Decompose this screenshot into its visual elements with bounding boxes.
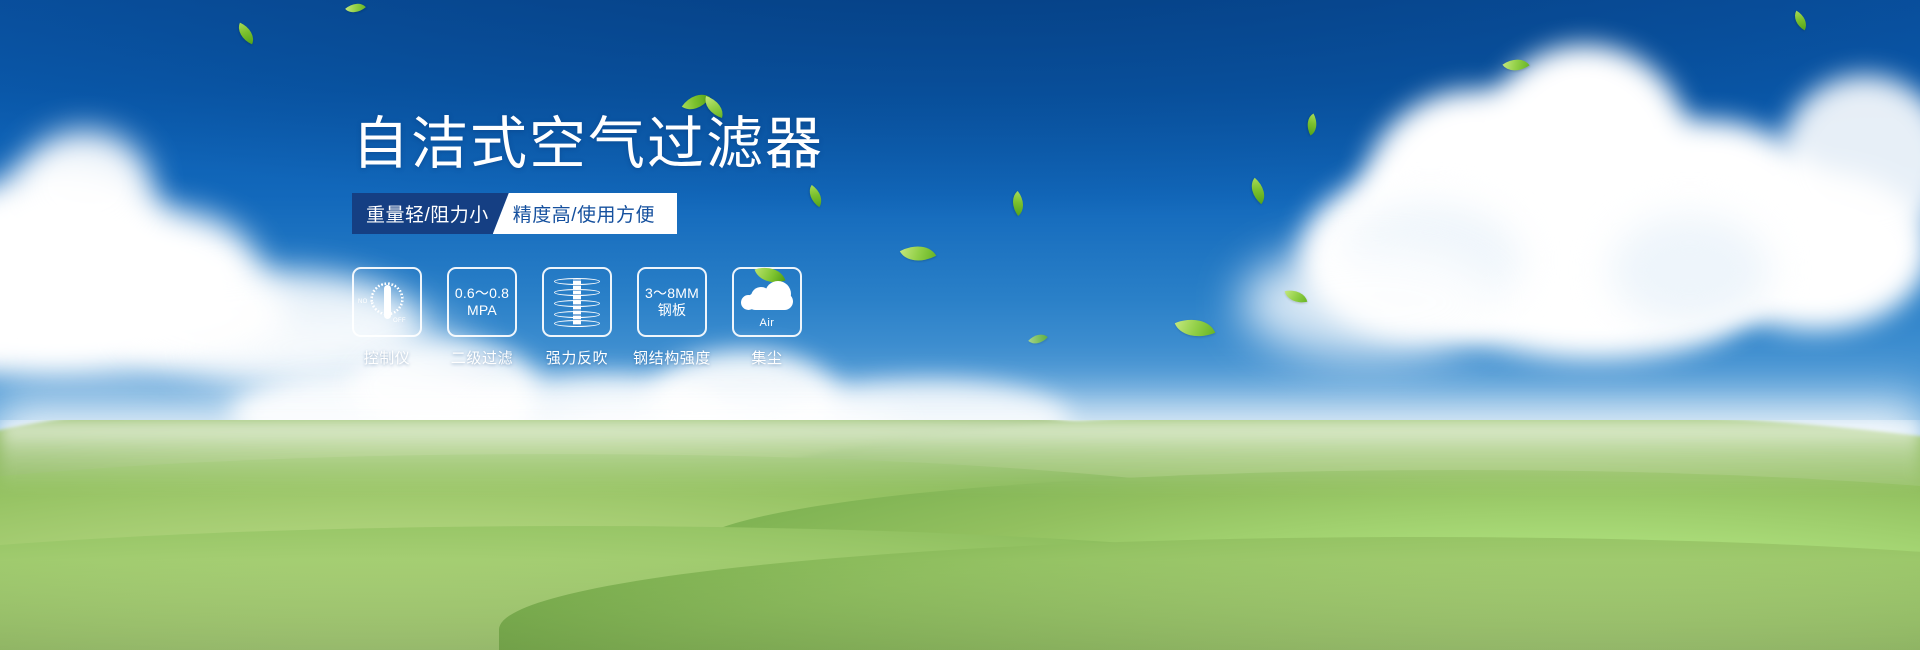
feature-icon-box: 3～8MM 钢板	[637, 267, 707, 337]
feature-caption: 控制仪	[364, 347, 411, 368]
pressure-text-icon: 0.6～0.8	[455, 285, 509, 302]
feature-icon-box: Air	[732, 267, 802, 337]
steel-plate-label: 钢板	[658, 302, 686, 319]
feature-caption: 集尘	[751, 347, 782, 368]
gauge-no-label: NO	[358, 299, 368, 305]
feature-icon-box: 0.6～0.8 MPA	[447, 267, 517, 337]
feature-caption: 钢结构强度	[633, 347, 711, 368]
feature-item: 强力反吹	[542, 267, 612, 368]
pressure-unit-label: MPA	[467, 302, 497, 319]
feature-item: 3～8MM 钢板 钢结构强度	[637, 267, 707, 368]
filter-coil-icon	[554, 277, 600, 327]
feature-caption: 二级过滤	[451, 347, 513, 368]
banner-content: 自洁式空气过滤器 重量轻/阻力小 精度高/使用方便 NO OFF 控制仪	[0, 0, 1920, 650]
steel-plate-text-icon: 3～8MM	[645, 285, 699, 302]
page-title: 自洁式空气过滤器	[352, 116, 824, 173]
feature-item: NO OFF 控制仪	[352, 267, 422, 368]
air-cloud-icon	[739, 275, 795, 315]
feature-item: Air 集尘	[732, 267, 802, 368]
feature-icon-box: NO OFF	[352, 267, 422, 337]
gauge-dial-icon: NO OFF	[361, 276, 413, 328]
badge-secondary: 精度高/使用方便	[493, 193, 677, 234]
feature-list: NO OFF 控制仪 0.6～0.8 MPA 二级过滤	[352, 267, 802, 368]
air-label: Air	[760, 317, 775, 329]
product-banner: 自洁式空气过滤器 重量轻/阻力小 精度高/使用方便 NO OFF 控制仪	[0, 0, 1920, 650]
feature-icon-box	[542, 267, 612, 337]
gauge-off-label: OFF	[393, 318, 406, 324]
tagline-badges: 重量轻/阻力小 精度高/使用方便	[352, 193, 677, 234]
feature-item: 0.6～0.8 MPA 二级过滤	[447, 267, 517, 368]
feature-caption: 强力反吹	[546, 347, 608, 368]
badge-primary: 重量轻/阻力小	[352, 193, 509, 234]
